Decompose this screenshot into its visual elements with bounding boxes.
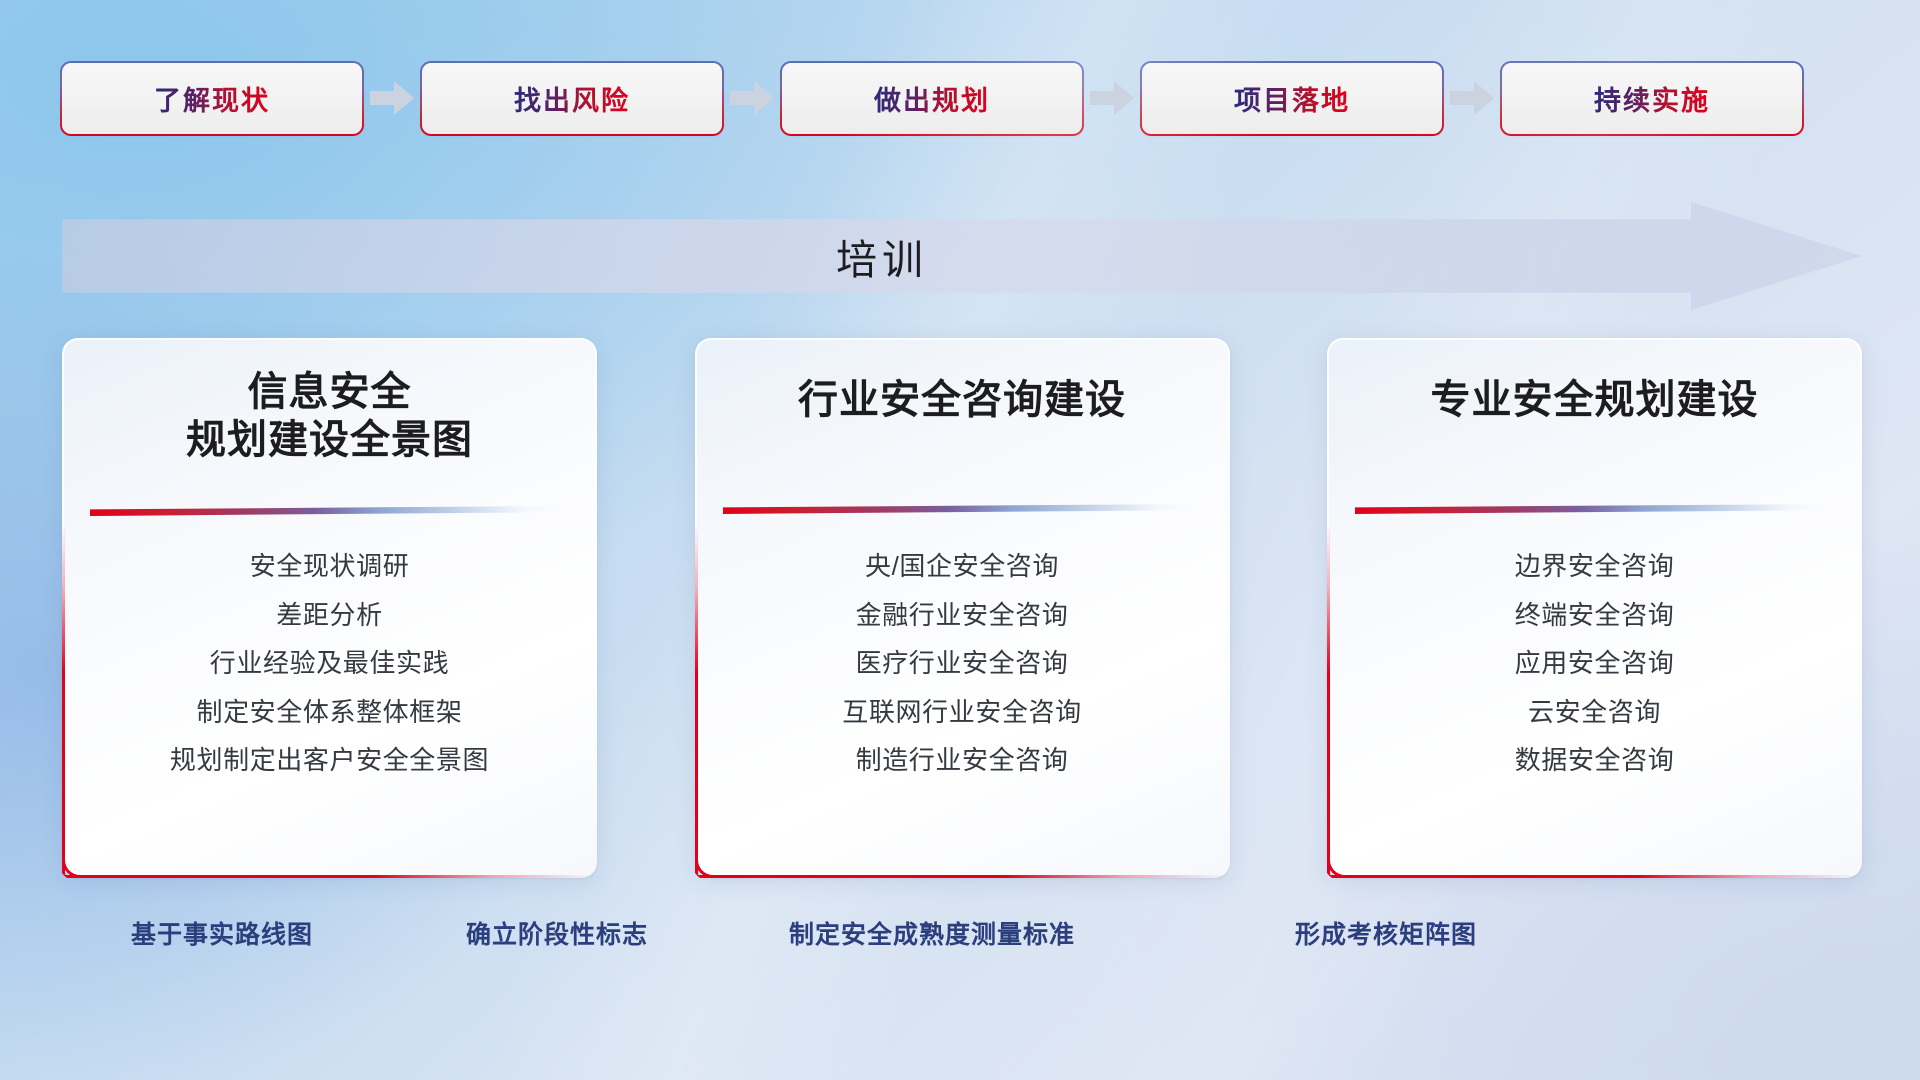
process-step-1-wrap: 找出风险 (422, 63, 782, 134)
list-item: 差距分析 (276, 599, 382, 632)
card-title: 行业安全咨询建设 (695, 376, 1230, 424)
process-step-2-wrap: 做出规划 (782, 63, 1142, 134)
training-banner: 培训 (62, 202, 1862, 310)
card-title: 专业安全规划建设 (1327, 376, 1862, 424)
card-industry-security-consulting[interactable]: 行业安全咨询建设 央/国企安全咨询 金融行业安全咨询 医疗行业安全咨询 互联网行… (695, 338, 1230, 878)
card-title-line-1: 信息安全 (88, 368, 571, 416)
process-step-4-label: 持续实施 (1594, 79, 1710, 118)
card-information-security-blueprint[interactable]: 信息安全 规划建设全景图 安全现状调研 差距分析 行业经验及最佳实践 制定安全体… (62, 338, 597, 878)
card-title-line-2: 规划建设全景图 (88, 416, 571, 464)
card-divider (90, 506, 560, 516)
list-item: 安全现状调研 (250, 550, 410, 583)
list-item: 行业经验及最佳实践 (210, 647, 449, 680)
step-arrow-right-icon-0 (362, 81, 422, 115)
list-item: 金融行业安全咨询 (856, 599, 1069, 632)
process-step-3-wrap: 项目落地 (1142, 63, 1502, 134)
list-item: 规划制定出客户安全全景图 (170, 744, 489, 777)
footnote-row: 基于事实路线图 确立阶段性标志 制定安全成熟度测量标准 形成考核矩阵图 (0, 915, 1920, 963)
list-item: 央/国企安全咨询 (865, 550, 1059, 583)
process-step-row: 了解现状 找出风险 做出规划 项目落地 (62, 62, 1862, 134)
step-arrow-right-icon-2 (1082, 81, 1142, 115)
step-arrow-right-icon-1 (722, 81, 782, 115)
process-step-4-wrap: 持续实施 (1502, 63, 1802, 134)
card-divider (723, 504, 1193, 514)
card-professional-security-planning[interactable]: 专业安全规划建设 边界安全咨询 终端安全咨询 应用安全咨询 云安全咨询 数据安全… (1327, 338, 1862, 878)
list-item: 数据安全咨询 (1515, 744, 1675, 777)
process-step-0-wrap: 了解现状 (62, 63, 422, 134)
card-divider (1355, 504, 1825, 514)
footnote-roadmap: 基于事实路线图 (131, 915, 313, 951)
process-step-0[interactable]: 了解现状 (62, 63, 362, 134)
list-item: 互联网行业安全咨询 (842, 696, 1081, 729)
card-item-list: 边界安全咨询 终端安全咨询 应用安全咨询 云安全咨询 数据安全咨询 (1327, 550, 1862, 777)
footnote-milestone: 确立阶段性标志 (466, 915, 648, 951)
list-item: 终端安全咨询 (1515, 599, 1675, 632)
footnote-maturity: 制定安全成熟度测量标准 (789, 915, 1075, 951)
list-item: 制定安全体系整体框架 (196, 696, 462, 729)
list-item: 边界安全咨询 (1515, 550, 1675, 583)
process-step-2-label: 做出规划 (874, 79, 990, 118)
card-row: 信息安全 规划建设全景图 安全现状调研 差距分析 行业经验及最佳实践 制定安全体… (62, 338, 1862, 878)
banner-title: 培训 (62, 202, 1702, 310)
list-item: 云安全咨询 (1528, 696, 1661, 729)
card-item-list: 安全现状调研 差距分析 行业经验及最佳实践 制定安全体系整体框架 规划制定出客户… (62, 550, 597, 777)
step-arrow-right-icon-3 (1442, 81, 1502, 115)
process-step-4[interactable]: 持续实施 (1502, 63, 1802, 134)
process-step-1-label: 找出风险 (514, 79, 630, 118)
list-item: 应用安全咨询 (1515, 647, 1675, 680)
process-step-1[interactable]: 找出风险 (422, 63, 722, 134)
footnote-matrix: 形成考核矩阵图 (1295, 915, 1477, 951)
card-item-list: 央/国企安全咨询 金融行业安全咨询 医疗行业安全咨询 互联网行业安全咨询 制造行… (695, 550, 1230, 777)
process-step-0-label: 了解现状 (154, 79, 270, 118)
process-step-3[interactable]: 项目落地 (1142, 63, 1442, 134)
list-item: 制造行业安全咨询 (856, 744, 1069, 777)
list-item: 医疗行业安全咨询 (856, 647, 1069, 680)
card-title: 信息安全 规划建设全景图 (62, 368, 597, 464)
process-step-2[interactable]: 做出规划 (782, 63, 1082, 134)
process-step-3-label: 项目落地 (1234, 79, 1350, 118)
